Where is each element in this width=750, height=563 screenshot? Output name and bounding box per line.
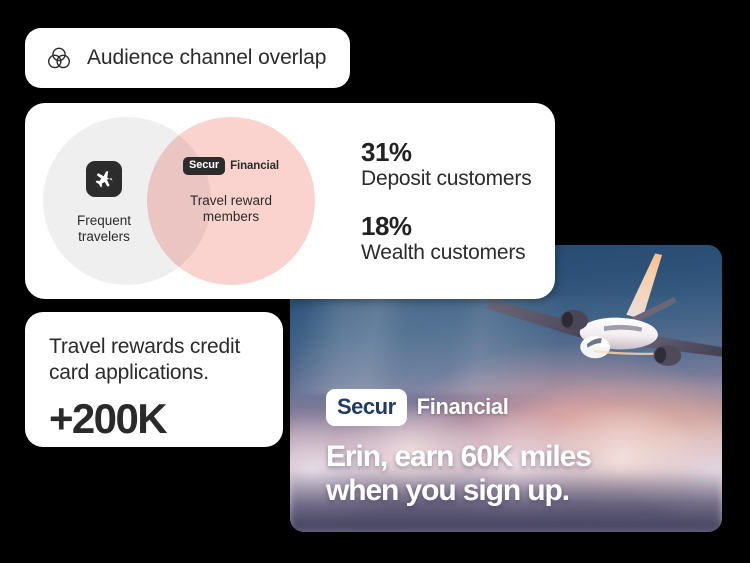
ad-headline-line1: Erin, earn 60K miles <box>326 440 591 473</box>
venn-right-label-line2: members <box>161 209 301 225</box>
venn-left-content: Frequent travelers <box>49 161 159 245</box>
financial-wordmark: Financial <box>417 394 509 420</box>
venn-right-content: Secur Financial Travel reward members <box>161 157 301 225</box>
screenshot-stage: Audience channel overlap Frequent travel… <box>0 0 750 563</box>
applications-count: +200K <box>49 398 261 440</box>
secur-wordmark-small: Secur <box>183 157 225 175</box>
overlap-stats-list: 31% Deposit customers 18% Wealth custome… <box>361 137 532 266</box>
credit-card-applications-card: Travel rewards credit card applications.… <box>25 312 283 447</box>
venn-right-label-line1: Travel reward <box>161 193 301 209</box>
ad-headline-line2: when you sign up. <box>326 474 569 507</box>
stat-value: 31% <box>361 139 532 166</box>
applications-label-line1: Travel rewards credit <box>49 334 261 360</box>
venn-diagram-icon <box>45 44 73 72</box>
stat-value: 18% <box>361 213 532 240</box>
venn-left-label-line2: travelers <box>49 229 159 245</box>
stat-deposit-customers: 31% Deposit customers <box>361 139 532 191</box>
stat-caption: Wealth customers <box>361 240 532 265</box>
venn-left-label-line1: Frequent <box>49 213 159 229</box>
applications-label-line2: card applications. <box>49 360 261 386</box>
secur-wordmark: Secur <box>326 389 407 426</box>
secur-financial-logo: Secur Financial <box>326 389 704 426</box>
financial-wordmark-small: Financial <box>230 160 279 172</box>
pill-label: Audience channel overlap <box>87 46 326 70</box>
audience-overlap-card: Frequent travelers Secur Financial Trave… <box>25 103 555 299</box>
stat-caption: Deposit customers <box>361 166 532 191</box>
secur-financial-logo-small: Secur Financial <box>161 157 301 175</box>
ad-content: Secur Financial Erin, earn 60K miles whe… <box>326 389 704 508</box>
airplane-icon <box>86 161 122 197</box>
ad-headline: Erin, earn 60K miles when you sign up. <box>326 440 666 508</box>
venn-diagram: Frequent travelers Secur Financial Trave… <box>43 111 333 291</box>
audience-channel-overlap-pill[interactable]: Audience channel overlap <box>25 28 350 88</box>
stat-wealth-customers: 18% Wealth customers <box>361 213 532 265</box>
